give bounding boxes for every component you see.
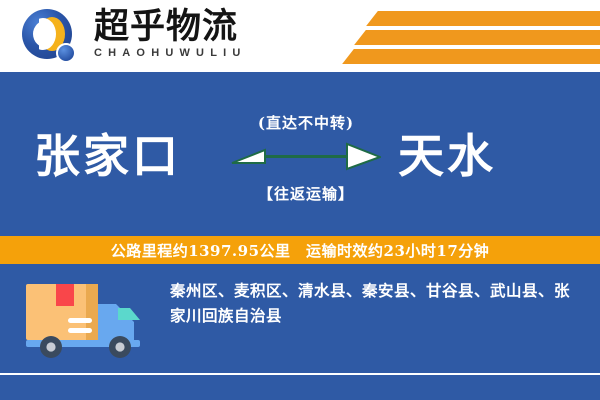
stripe-1 xyxy=(366,11,600,26)
route-note-bottom: 【往返运输】 xyxy=(228,183,384,204)
logistics-route-banner: 超乎物流 CHAOHUWULIU 张家口 (直达不中转) 【往返运输】 天水 公… xyxy=(0,0,600,400)
decorative-stripes xyxy=(300,0,600,72)
brand-name-cn: 超乎物流 xyxy=(94,8,247,46)
header: 超乎物流 CHAOHUWULIU xyxy=(0,0,600,72)
origin-city: 张家口 xyxy=(34,131,181,181)
route-panel: 张家口 (直达不中转) 【往返运输】 天水 xyxy=(0,72,600,236)
distance-duration-text: 公路里程约1397.95公里 运输时效约23小时17分钟 xyxy=(111,240,490,261)
stripe-2 xyxy=(354,30,600,45)
bidirectional-arrow-icon xyxy=(231,139,381,173)
distance-duration-bar: 公路里程约1397.95公里 运输时效约23小时17分钟 xyxy=(0,236,600,264)
route-note-top: (直达不中转) xyxy=(228,112,384,133)
brand-name-en: CHAOHUWULIU xyxy=(94,47,247,59)
coverage-section: 秦州区、麦积区、清水县、秦安县、甘谷县、武山县、张家川回族自治县 xyxy=(0,264,600,373)
circle-crescent-logo-icon xyxy=(22,9,78,65)
logo-accent-dot xyxy=(56,43,76,63)
brand-block: 超乎物流 CHAOHUWULIU xyxy=(94,8,247,59)
route-middle: (直达不中转) 【往返运输】 xyxy=(228,112,384,204)
delivery-truck-icon xyxy=(22,276,150,362)
coverage-areas-text: 秦州区、麦积区、清水县、秦安县、甘谷县、武山县、张家川回族自治县 xyxy=(170,278,584,328)
stripe-3 xyxy=(342,49,600,64)
footer-strip xyxy=(0,375,600,400)
destination-city: 天水 xyxy=(398,131,496,181)
